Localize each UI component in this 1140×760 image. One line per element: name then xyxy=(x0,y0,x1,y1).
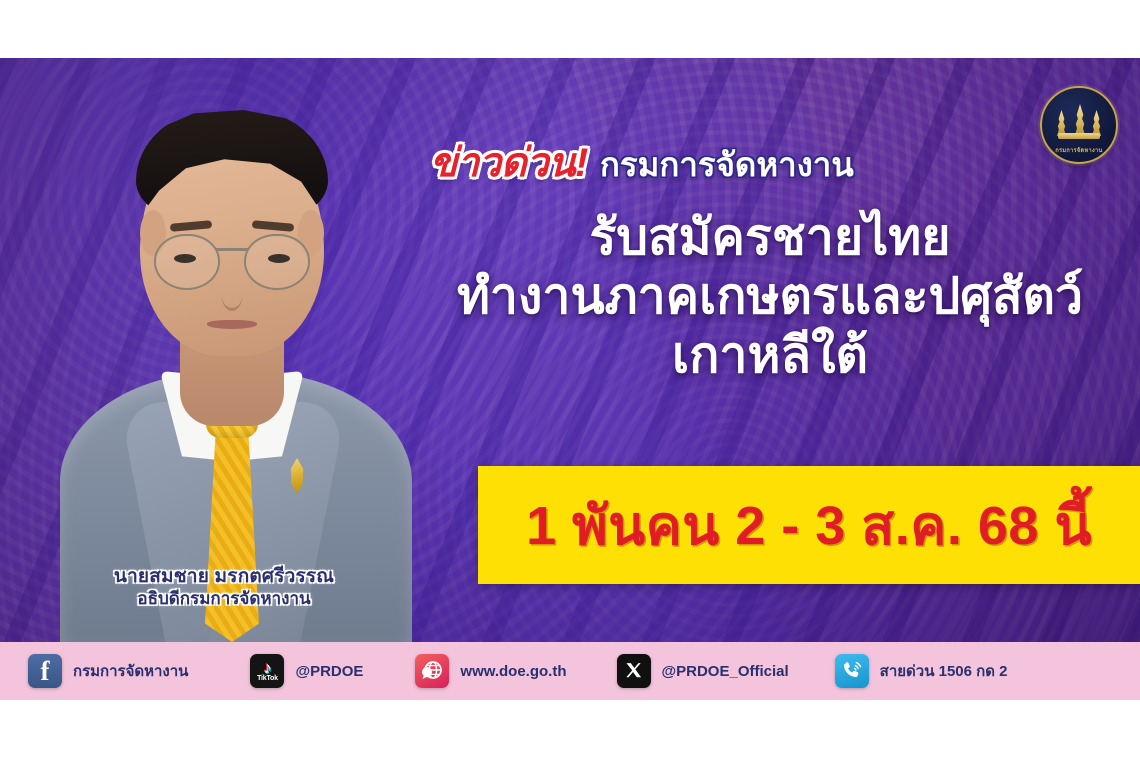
tiktok-note-glyph: ♪ xyxy=(263,662,271,675)
lens-right xyxy=(244,234,310,290)
glasses-bridge xyxy=(216,248,248,251)
footer-item-tiktok[interactable]: ♪ TikTok @PRDOE xyxy=(250,654,363,688)
nose xyxy=(221,274,243,311)
portrait-caption: นายสมชาย มรกตศรีวรรณ อธิบดีกรมการจัดหางา… xyxy=(24,566,424,608)
spire-center xyxy=(1073,104,1088,136)
facebook-label: กรมการจัดหางาน xyxy=(73,659,188,683)
footer-item-website[interactable]: www.doe.go.th xyxy=(415,654,566,688)
headline-line-1: รับสมัครชายไทย xyxy=(420,208,1120,267)
tiktok-icon[interactable]: ♪ TikTok xyxy=(250,654,284,688)
footer-item-facebook[interactable]: f กรมการจัดหางาน xyxy=(28,654,188,688)
quota-date-text: 1 พันคน 2 - 3 ส.ค. 68 นี้ xyxy=(526,482,1092,568)
emblem-base xyxy=(1058,133,1100,139)
tiktok-icon-caption: TikTok xyxy=(257,675,278,683)
eyebrow-line: ข่าวด่วน! กรมการจัดหางาน xyxy=(430,130,1030,194)
department-logo: กรมการจัดหางาน xyxy=(1040,86,1118,164)
facebook-icon[interactable]: f xyxy=(28,654,62,688)
phone-glyph xyxy=(840,659,864,683)
hotline-label: สายด่วน 1506 กด 2 xyxy=(880,659,1008,683)
director-portrait xyxy=(22,58,442,642)
department-label: กรมการจัดหางาน xyxy=(600,138,854,191)
website-label: www.doe.go.th xyxy=(460,663,566,680)
headline-block: รับสมัครชายไทย ทำงานภาคเกษตรและปศุสัตว์ … xyxy=(420,208,1120,385)
contact-footer-bar: f กรมการจัดหางาน ♪ TikTok @PRDOE xyxy=(0,642,1140,700)
globe-glyph xyxy=(420,659,444,683)
quota-date-banner: 1 พันคน 2 - 3 ส.ค. 68 นี้ xyxy=(478,466,1140,584)
logo-ring-text: กรมการจัดหางาน xyxy=(1045,145,1113,155)
emblem-spires-icon xyxy=(1053,103,1105,136)
director-role: อธิบดีกรมการจัดหางาน xyxy=(24,589,424,608)
director-name: นายสมชาย มรกตศรีวรรณ xyxy=(24,566,424,587)
website-icon[interactable] xyxy=(415,654,449,688)
tiktok-label: @PRDOE xyxy=(295,663,363,680)
lens-left xyxy=(154,234,220,290)
breaking-news-label: ข่าวด่วน! xyxy=(430,130,588,194)
x-label: @PRDOE_Official xyxy=(662,663,789,680)
headline-line-3: เกาหลีใต้ xyxy=(420,326,1120,385)
footer-item-hotline[interactable]: สายด่วน 1506 กด 2 xyxy=(835,654,1008,688)
footer-item-x[interactable]: @PRDOE_Official xyxy=(617,654,789,688)
mouth xyxy=(207,320,257,329)
headline-line-2: ทำงานภาคเกษตรและปศุสัตว์ xyxy=(420,267,1120,326)
x-twitter-icon[interactable] xyxy=(617,654,651,688)
poster-canvas: นายสมชาย มรกตศรีวรรณ อธิบดีกรมการจัดหางา… xyxy=(0,58,1140,700)
phone-hotline-icon[interactable] xyxy=(835,654,869,688)
x-glyph xyxy=(624,661,644,681)
